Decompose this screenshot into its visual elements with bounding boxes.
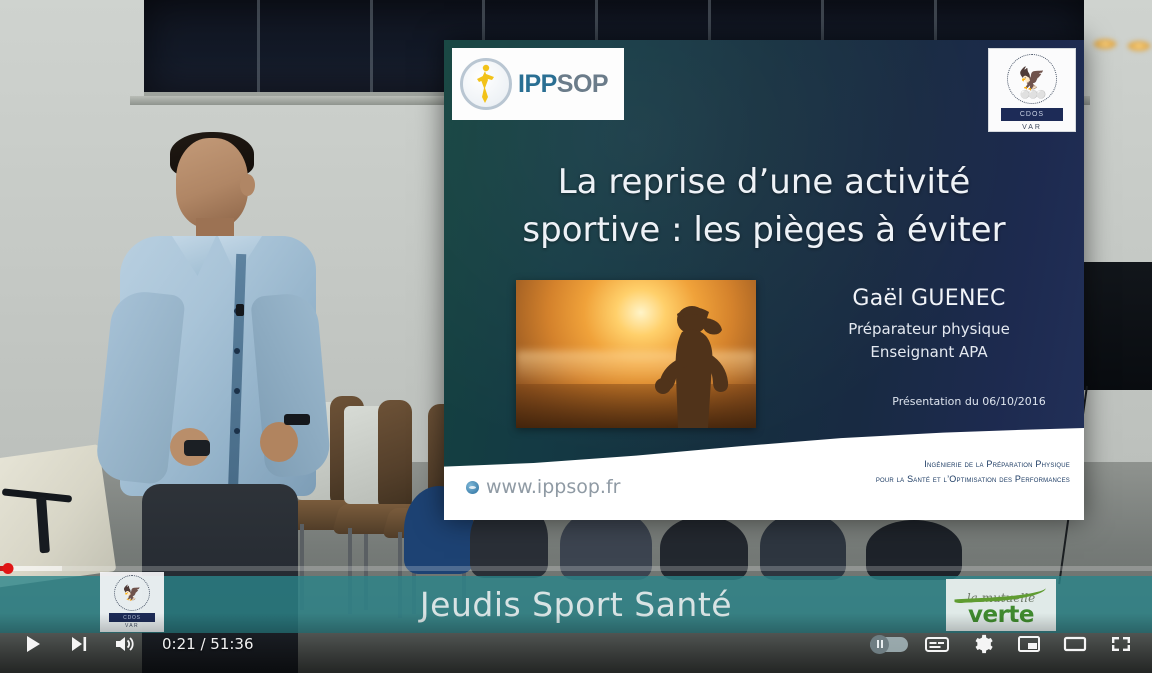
next-video-button[interactable] (56, 627, 102, 661)
runner-sunset-photo (516, 280, 756, 428)
speaker-name: Gaël GUENEC (794, 286, 1064, 311)
cdos-sub-label: VAR (1022, 124, 1042, 131)
tagline-line2: pour la Santé et l’Optimisation des Perf… (876, 472, 1070, 486)
projected-slide: IPPSOP 🦅 ⚪⚪⚪ CDOS VAR La reprise d’une a… (444, 40, 1084, 520)
presentation-clicker (184, 440, 210, 456)
runner-silhouette (630, 296, 738, 428)
subtitles-icon (924, 634, 950, 654)
theater-mode-button[interactable] (1052, 627, 1098, 661)
presenter-watch (284, 414, 310, 425)
ippsop-runner-icon (458, 56, 514, 112)
play-icon (23, 634, 43, 654)
video-frame[interactable]: IPPSOP 🦅 ⚪⚪⚪ CDOS VAR La reprise d’une a… (0, 0, 1152, 673)
olympic-rings-icon: ⚪⚪⚪ (1020, 90, 1044, 99)
audience-member (866, 520, 962, 580)
presentation-date: Présentation du 06/10/2016 (874, 395, 1064, 408)
presenter-head (176, 138, 248, 228)
next-icon (69, 634, 89, 654)
slide-title-line2: sportive : les pièges à éviter (484, 206, 1044, 254)
wall-monitor (1078, 262, 1152, 390)
ippsop-logo: IPPSOP (452, 48, 624, 120)
runner-glyph (475, 64, 495, 104)
presenter-ear (240, 174, 255, 196)
video-player: IPPSOP 🦅 ⚪⚪⚪ CDOS VAR La reprise d’une a… (0, 0, 1152, 673)
presenter (108, 132, 358, 572)
ceiling-light (1126, 40, 1152, 52)
miniplayer-icon (1017, 634, 1041, 654)
slide-tagline: Ingénierie de la Préparation Physique po… (876, 457, 1070, 486)
rooster-emblem-icon: 🦅 ⚪⚪⚪ (1007, 54, 1057, 104)
lapel-microphone (236, 304, 244, 316)
play-button[interactable] (10, 627, 56, 661)
rooster-emblem-icon: 🦅 (114, 575, 150, 611)
autoplay-toggle[interactable] (864, 627, 914, 661)
fullscreen-icon (1110, 634, 1132, 654)
website-url-text: www.ippsop.fr (486, 476, 620, 498)
time-display: 0:21 / 51:36 (162, 635, 254, 653)
autoplay-knob (870, 635, 889, 654)
progress-scrubber[interactable] (3, 563, 14, 574)
speaker-role-line2: Enseignant APA (794, 341, 1064, 364)
ippsop-wordmark: IPPSOP (518, 72, 608, 97)
pause-icon (877, 640, 883, 648)
volume-icon (114, 634, 136, 654)
slide-title-line1: La reprise d’une activité (484, 158, 1044, 206)
slide-website: www.ippsop.fr (466, 476, 620, 498)
presenter-hand (260, 422, 298, 462)
cdos-var-logo: 🦅 ⚪⚪⚪ CDOS VAR (988, 48, 1076, 132)
speaker-role-line1: Préparateur physique (794, 318, 1064, 341)
cdos-bar-label: CDOS (1001, 108, 1063, 121)
player-controls: 0:21 / 51:36 (0, 613, 1152, 673)
fullscreen-button[interactable] (1098, 627, 1144, 661)
theater-icon (1063, 634, 1087, 654)
tagline-line1: Ingénierie de la Préparation Physique (876, 457, 1070, 471)
gear-icon (972, 633, 994, 655)
volume-button[interactable] (102, 627, 148, 661)
slide-title: La reprise d’une activité sportive : les… (484, 158, 1044, 255)
miniplayer-button[interactable] (1006, 627, 1052, 661)
progress-bar[interactable] (0, 566, 1152, 571)
speaker-block: Gaël GUENEC Préparateur physique Enseign… (794, 286, 1064, 363)
globe-icon (466, 481, 479, 494)
ceiling-light (1092, 38, 1118, 50)
settings-button[interactable] (960, 627, 1006, 661)
subtitles-button[interactable] (914, 627, 960, 661)
